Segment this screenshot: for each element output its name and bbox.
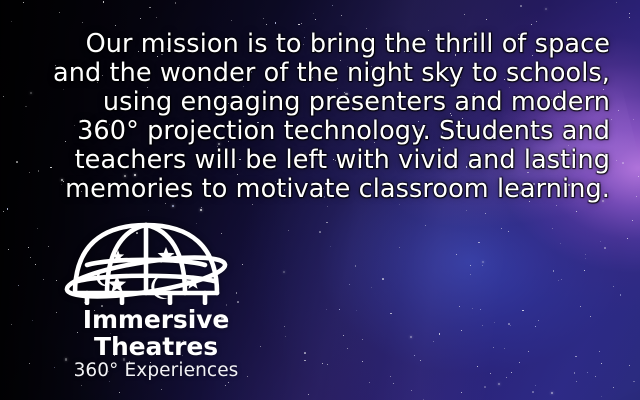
logo-tagline: 360° Experiences [22,360,290,382]
planetarium-dome-icon [60,217,232,305]
brand-logo: Immersive Theatres 360° Experiences [22,217,290,382]
logo-company-name: Immersive Theatres [22,306,290,360]
promo-slide: Our mission is to bring the thrill of sp… [0,0,640,400]
mission-statement: Our mission is to bring the thrill of sp… [24,30,610,204]
